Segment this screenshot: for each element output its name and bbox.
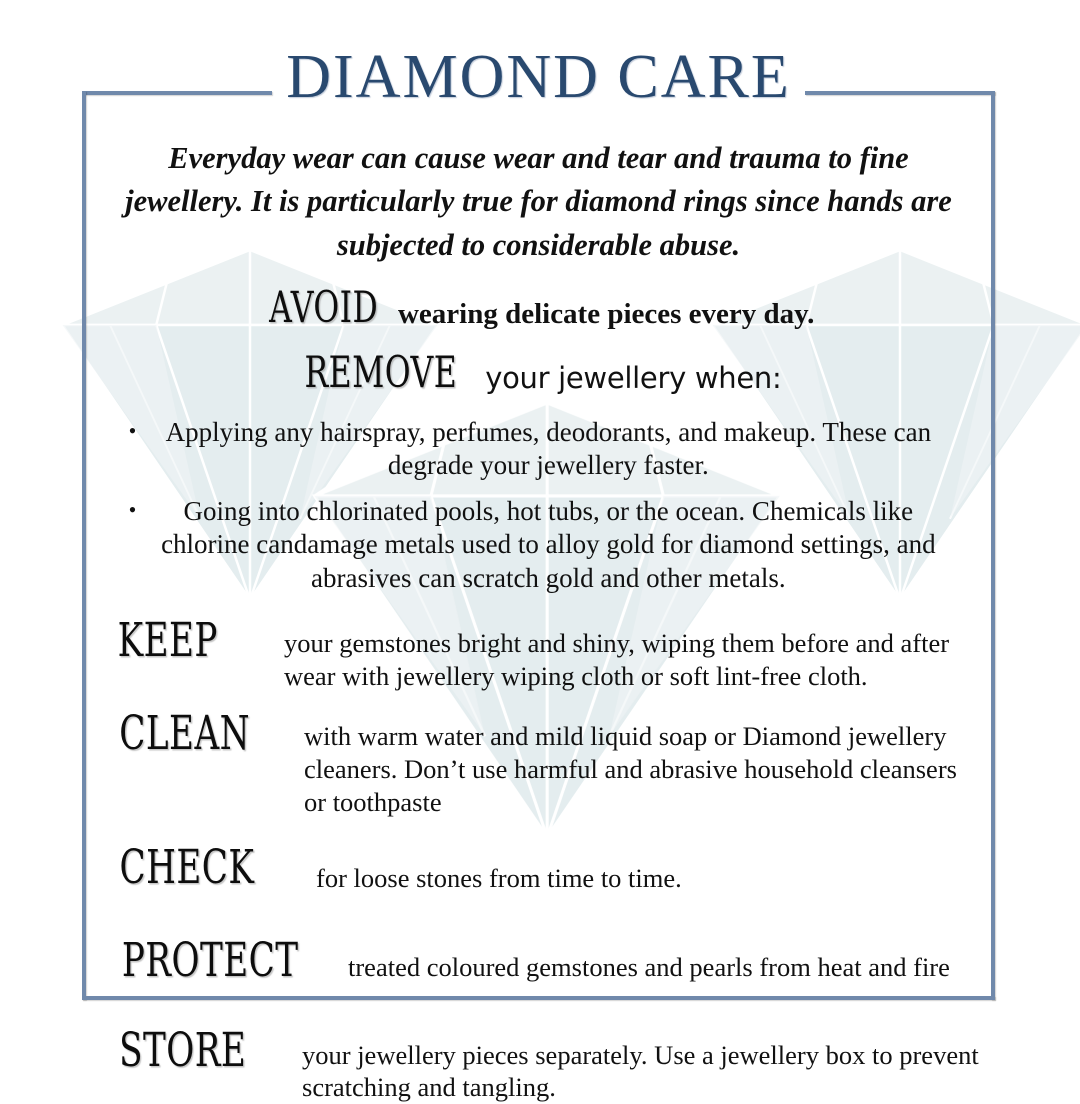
remove-body: your jewellery when: xyxy=(485,361,781,395)
remove-row: REMOVEyour jewellery when: xyxy=(98,358,979,398)
diamond-care-card: DIAMOND CARE Everyday wear can cause wea… xyxy=(82,91,995,1000)
bullet-dot-icon: • xyxy=(129,495,137,525)
keep-keyword: KEEP xyxy=(118,613,218,668)
avoid-row: AVOIDwearing delicate pieces every day. xyxy=(98,293,979,333)
keep-keyword-cell: KEEP xyxy=(112,621,270,667)
clean-keyword: CLEAN xyxy=(119,706,250,761)
list-item-text: Applying any hairspray, perfumes, deodor… xyxy=(148,416,948,483)
clean-body: with warm water and mild liquid soap or … xyxy=(290,714,979,818)
section-check: CHECK for loose stones from time to time… xyxy=(98,848,979,895)
list-item-text: Going into chlorinated pools, hot tubs, … xyxy=(148,495,948,595)
check-body: for loose stones from time to time. xyxy=(302,848,979,895)
avoid-keyword: AVOID xyxy=(269,283,378,333)
avoid-body: wearing delicate pieces every day. xyxy=(398,298,814,330)
store-keyword-cell: STORE xyxy=(112,1031,288,1077)
list-item: • Applying any hairspray, perfumes, deod… xyxy=(98,416,979,483)
protect-keyword: PROTECT xyxy=(122,932,299,987)
bullet-dot-icon: • xyxy=(129,416,137,446)
check-keyword: CHECK xyxy=(119,840,254,895)
check-keyword-cell: CHECK xyxy=(112,848,302,894)
care-content: Everyday wear can cause wear and tear an… xyxy=(82,91,995,1104)
keep-body: your gemstones bright and shiny, wiping … xyxy=(270,621,979,692)
remove-bullet-list: • Applying any hairspray, perfumes, deod… xyxy=(98,416,979,595)
section-clean: CLEAN with warm water and mild liquid so… xyxy=(98,714,979,818)
section-keep: KEEP your gemstones bright and shiny, wi… xyxy=(98,621,979,692)
protect-keyword-cell: PROTECT xyxy=(112,941,334,987)
remove-keyword: REMOVE xyxy=(304,348,457,398)
clean-keyword-cell: CLEAN xyxy=(112,714,290,760)
store-body: your jewellery pieces separately. Use a … xyxy=(288,1031,979,1104)
list-item: • Going into chlorinated pools, hot tubs… xyxy=(98,495,979,595)
section-protect: PROTECT treated coloured gemstones and p… xyxy=(98,941,979,987)
store-keyword: STORE xyxy=(119,1022,246,1077)
intro-paragraph: Everyday wear can cause wear and tear an… xyxy=(110,137,967,267)
section-store: STORE your jewellery pieces separately. … xyxy=(98,1031,979,1104)
protect-body: treated coloured gemstones and pearls fr… xyxy=(334,941,979,984)
